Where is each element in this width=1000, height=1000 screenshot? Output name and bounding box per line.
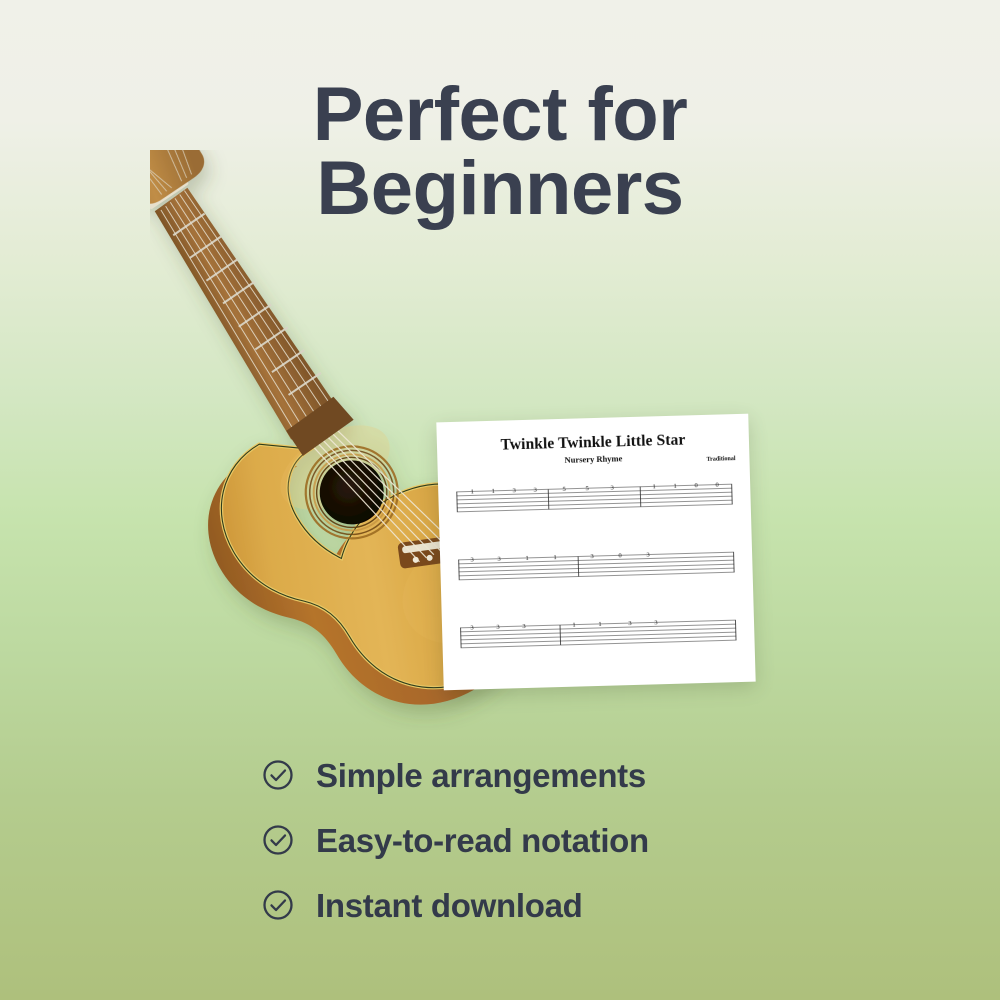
svg-text:0: 0 [715, 482, 718, 489]
list-item: Easy-to-read notation [262, 813, 782, 867]
tab-system-2: 33 11 303 [458, 544, 735, 586]
svg-text:0: 0 [694, 482, 697, 489]
svg-text:1: 1 [572, 622, 575, 629]
list-item: Simple arrangements [262, 748, 782, 802]
benefit-label: Simple arrangements [316, 759, 646, 792]
page-title: Perfect for Beginners [0, 78, 1000, 227]
svg-text:1: 1 [525, 555, 528, 562]
svg-text:1: 1 [673, 483, 676, 490]
svg-text:5: 5 [586, 485, 589, 492]
svg-text:3: 3 [654, 619, 657, 626]
tab-system-1: 11 33 553 11 00 [456, 476, 733, 518]
svg-text:5: 5 [563, 486, 566, 493]
svg-text:3: 3 [534, 487, 537, 494]
svg-text:1: 1 [471, 488, 474, 495]
svg-text:1: 1 [553, 554, 556, 561]
benefit-label: Instant download [316, 889, 583, 922]
promo-poster: Perfect for Beginners [0, 0, 1000, 1000]
svg-text:3: 3 [513, 487, 516, 494]
svg-text:3: 3 [497, 556, 500, 563]
list-item: Instant download [262, 878, 782, 932]
benefit-label: Easy-to-read notation [316, 824, 649, 857]
svg-text:3: 3 [496, 624, 499, 631]
circle-check-icon [262, 889, 294, 921]
svg-text:1: 1 [652, 483, 655, 490]
circle-check-icon [262, 759, 294, 791]
svg-text:1: 1 [598, 621, 601, 628]
svg-text:3: 3 [470, 556, 473, 563]
svg-text:3: 3 [610, 484, 613, 491]
sheet-music-composer: Traditional [706, 456, 735, 463]
svg-text:0: 0 [618, 552, 621, 559]
svg-text:3: 3 [646, 552, 649, 559]
svg-text:3: 3 [470, 624, 473, 631]
svg-text:3: 3 [628, 620, 631, 627]
svg-text:3: 3 [522, 623, 525, 630]
sheet-music-preview: Twinkle Twinkle Little Star Nursery Rhym… [436, 414, 755, 691]
svg-text:1: 1 [492, 488, 495, 495]
circle-check-icon [262, 824, 294, 856]
tab-system-3: 333 11 33 [460, 612, 737, 654]
benefits-list: Simple arrangements Easy-to-read notatio… [262, 748, 782, 943]
svg-text:3: 3 [590, 553, 593, 560]
